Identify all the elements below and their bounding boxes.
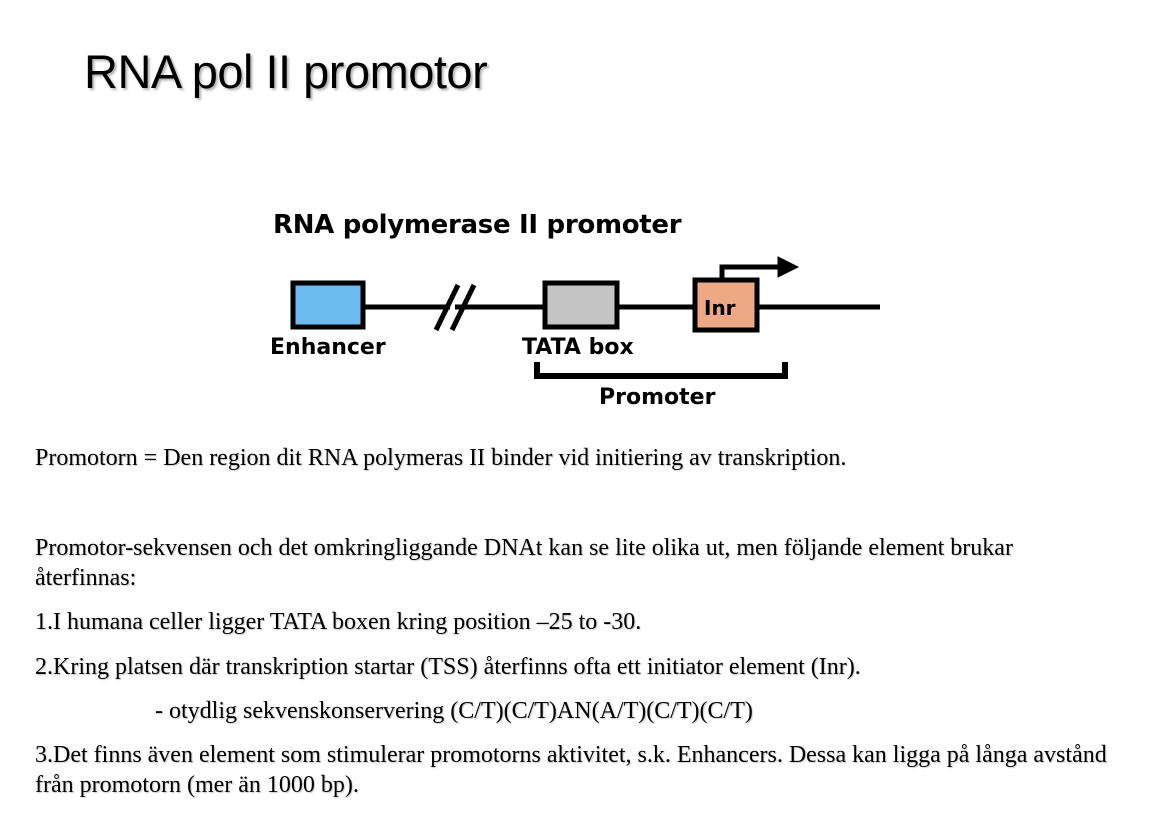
list-sub-item: - otydlig sekvenskonservering (C/T)(C/T)…	[155, 696, 1135, 726]
promoter-diagram: RNA polymerase II promoter Enhancer TATA…	[0, 190, 1150, 420]
list-item: 1.I humana celler ligger TATA boxen krin…	[35, 607, 1115, 637]
page-title: RNA pol II promotor	[84, 44, 487, 99]
enhancer-box	[293, 283, 363, 327]
inr-label: Inr	[704, 296, 736, 320]
definition-paragraph: Promotorn = Den region dit RNA polymeras…	[35, 443, 1115, 473]
promoter-label: Promoter	[599, 385, 716, 410]
promoter-bracket	[537, 362, 785, 376]
intro-paragraph: Promotor-sekvensen och det omkringliggan…	[35, 533, 1090, 593]
list-item: 2.Kring platsen där transkription starta…	[35, 652, 1115, 682]
tss-arrowhead-icon	[778, 257, 798, 277]
tata-box	[545, 283, 617, 327]
promoter-diagram-svg: Enhancer TATA box Inr Promoter	[0, 190, 1150, 420]
enhancer-label: Enhancer	[270, 335, 386, 360]
tata-box-label: TATA box	[522, 335, 634, 360]
list-item: 3.Det finns även element som stimulerar …	[35, 740, 1130, 800]
